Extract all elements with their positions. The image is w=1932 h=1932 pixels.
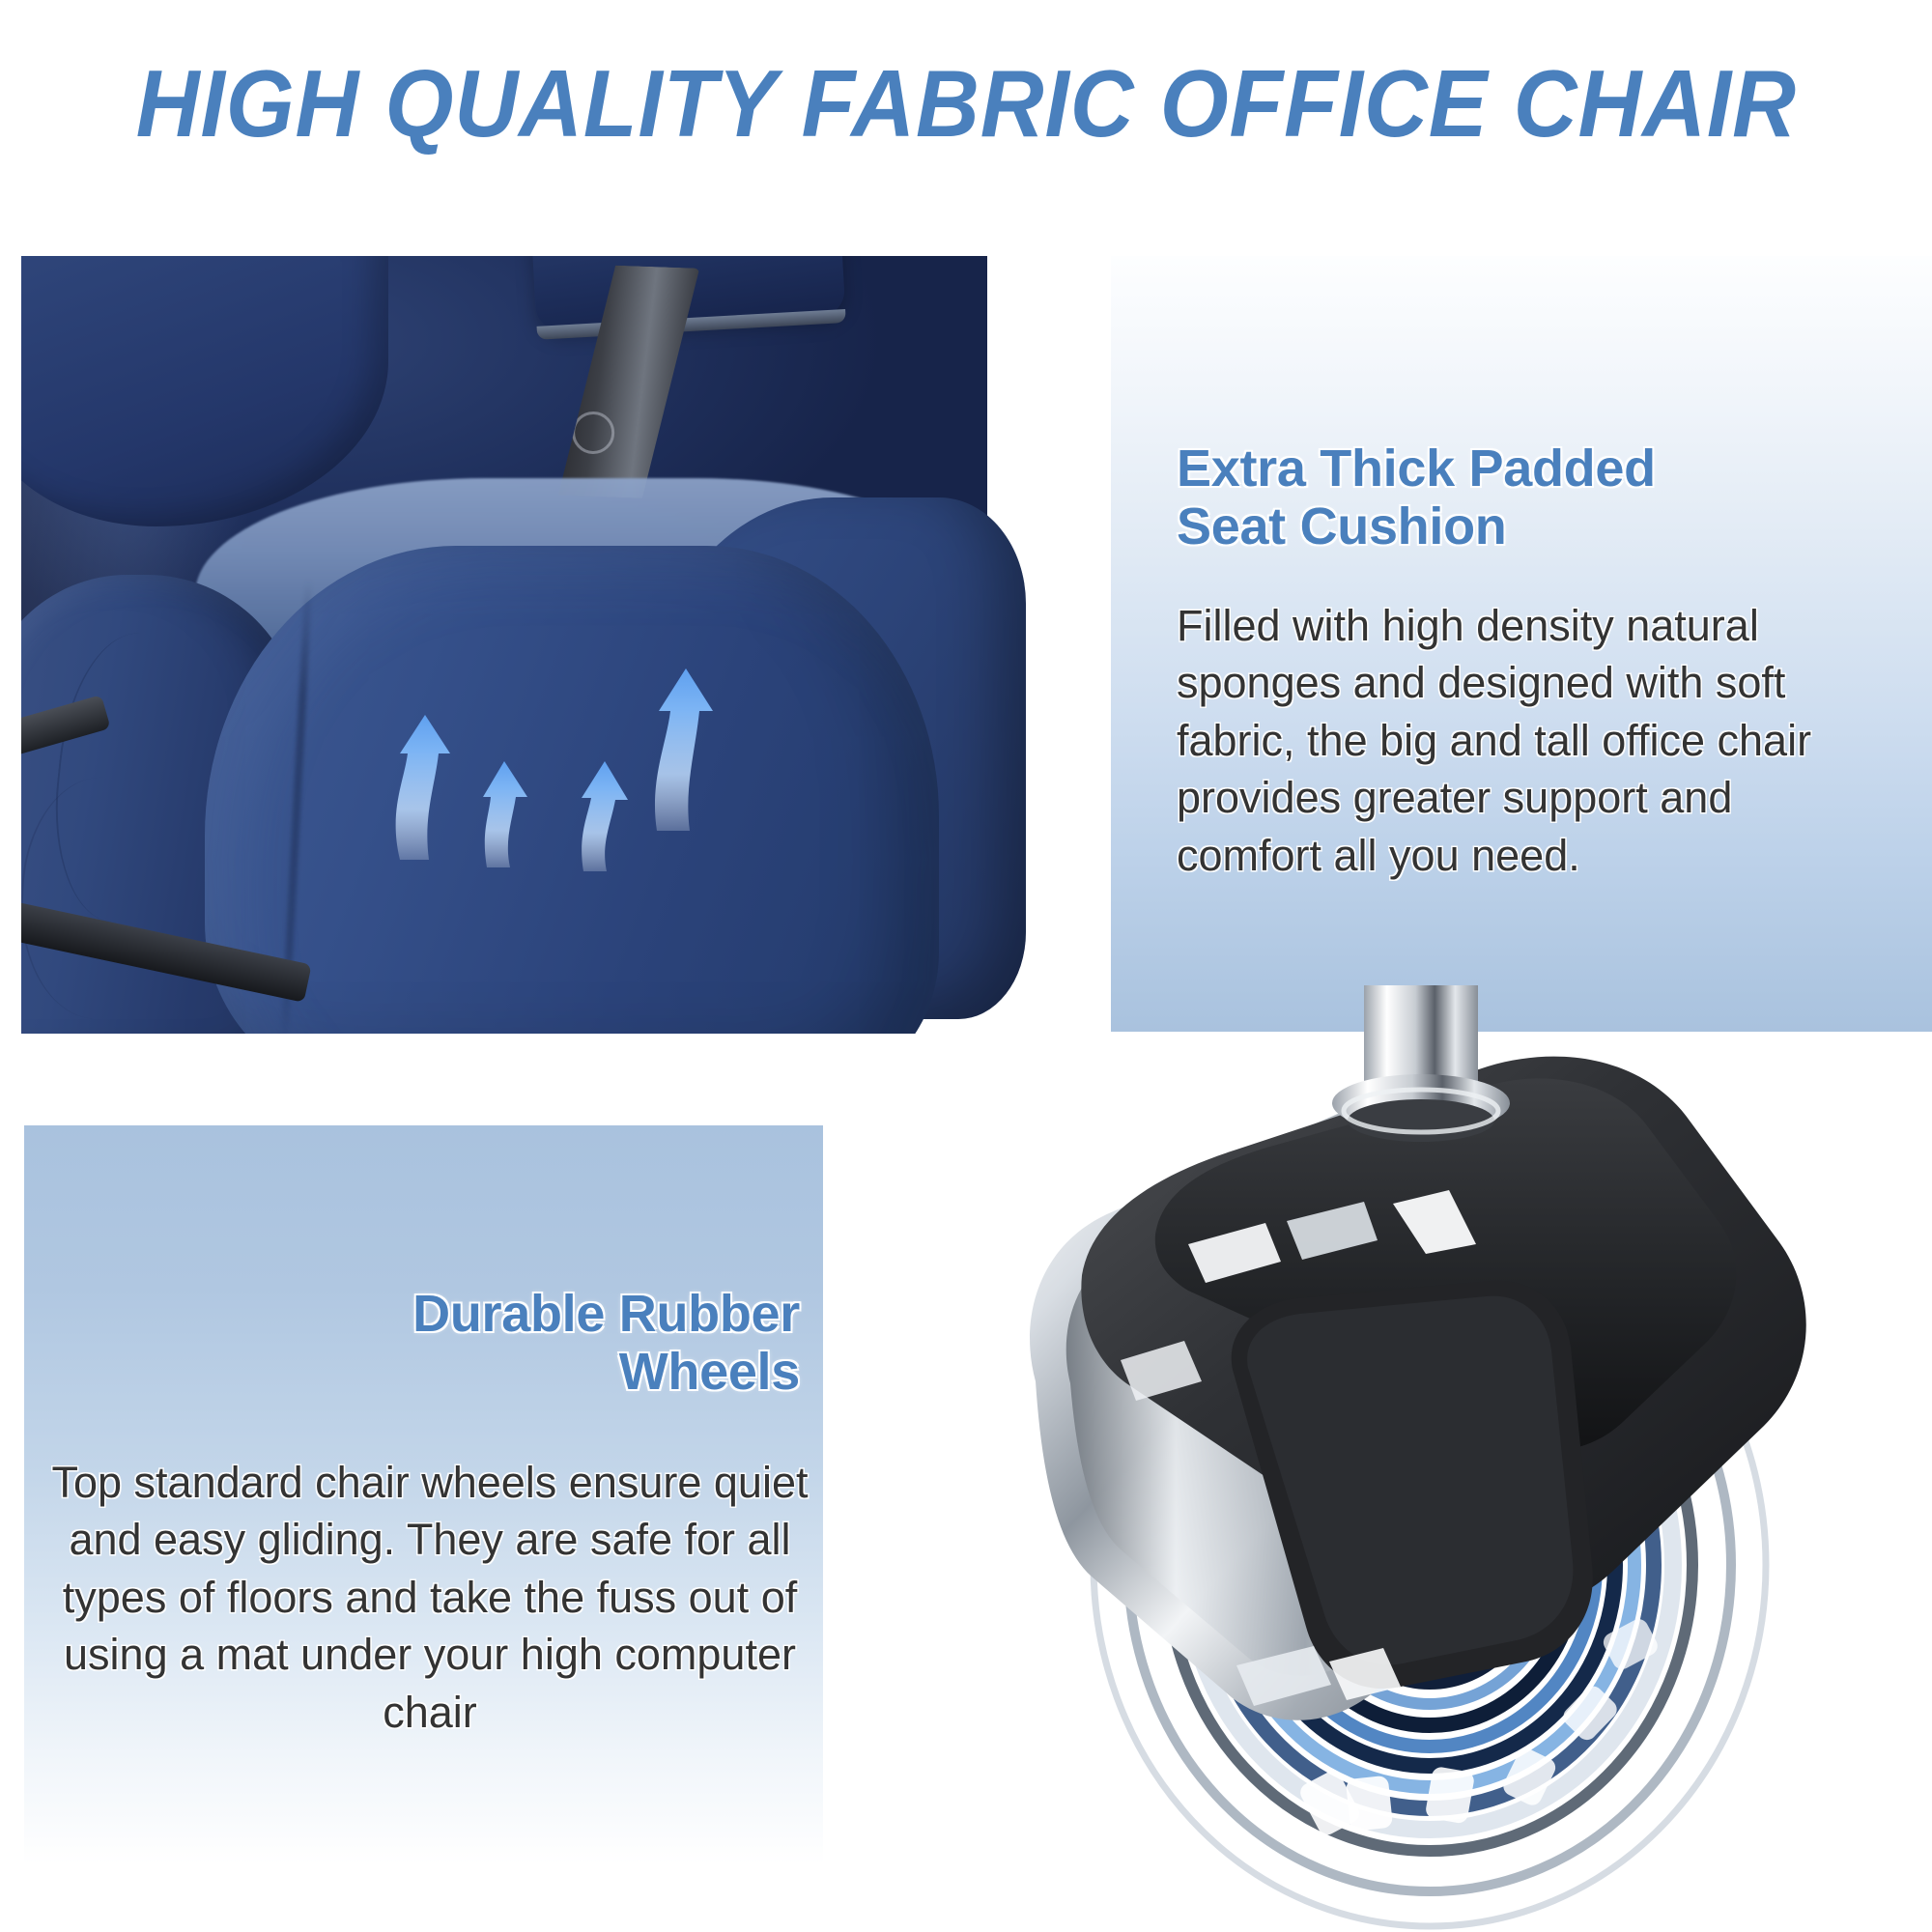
infographic-root: HIGH QUALITY FABRIC OFFICE CHAIR xyxy=(0,0,1932,1932)
caster-wheel-illustration xyxy=(947,985,1932,1932)
feature-text-seat-cushion: Extra Thick Padded Seat Cushion Filled w… xyxy=(1177,440,1833,884)
feature-heading-rubber-wheels: Durable Rubber Wheels xyxy=(48,1285,811,1402)
chair-seat-cushion-roll xyxy=(205,546,939,1034)
feature-heading-line-1: Durable Rubber xyxy=(48,1285,800,1343)
feature-text-rubber-wheels: Durable Rubber Wheels Top standard chair… xyxy=(48,1285,811,1741)
feature-heading-line-2: Wheels xyxy=(48,1343,800,1401)
page-title-text: HIGH QUALITY FABRIC OFFICE CHAIR xyxy=(135,56,1796,151)
fabric-chair-seat-photo xyxy=(21,256,1115,1034)
feature-heading-line-1: Extra Thick Padded xyxy=(1177,440,1833,497)
page-title: HIGH QUALITY FABRIC OFFICE CHAIR xyxy=(0,50,1932,156)
caster-mounting-stem xyxy=(1332,985,1510,1142)
bolster-stitch-line xyxy=(21,775,199,1022)
caster-wheel-photo xyxy=(947,985,1932,1932)
armrest-adjust-knob-icon xyxy=(571,411,615,455)
feature-heading-seat-cushion: Extra Thick Padded Seat Cushion xyxy=(1177,440,1833,556)
feature-body-seat-cushion: Filled with high density natural sponges… xyxy=(1177,597,1833,884)
feature-heading-line-2: Seat Cushion xyxy=(1177,497,1833,555)
feature-body-rubber-wheels: Top standard chair wheels ensure quiet a… xyxy=(48,1454,811,1741)
